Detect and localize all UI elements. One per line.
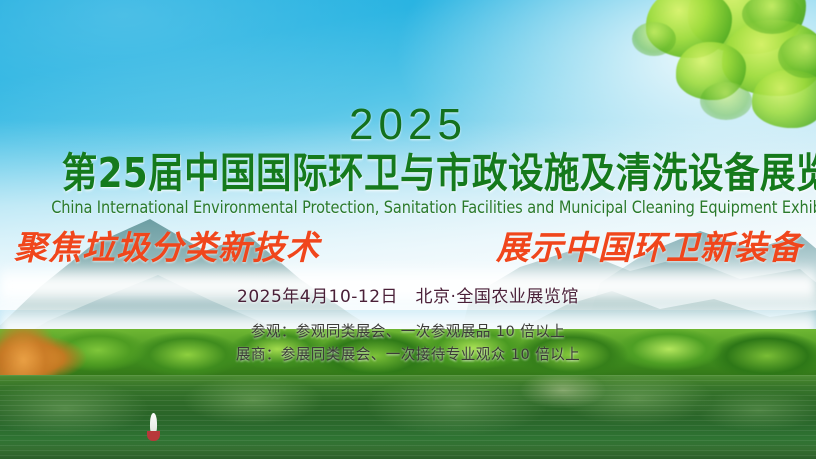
poster-year: 2025: [0, 103, 816, 147]
poster-text-content: 2025 第25届中国国际环卫与市政设施及清洗设备展览会 China Inter…: [0, 0, 816, 459]
slogan-left: 聚焦垃圾分类新技术: [14, 221, 320, 269]
slogan-right: 展示中国环卫新装备: [496, 221, 802, 269]
exhibition-poster: 2025 第25届中国国际环卫与市政设施及清洗设备展览会 China Inter…: [0, 0, 816, 459]
page-title: 第25届中国国际环卫与市政设施及清洗设备展览会: [0, 152, 816, 195]
note-exhibitor: 展商：参展同类展会、一次接待专业观众 10 倍以上: [0, 343, 816, 364]
slogan-row: 聚焦垃圾分类新技术 展示中国环卫新装备: [0, 221, 816, 269]
date-and-venue: 2025年4月10-12日 北京·全国农业展览馆: [0, 282, 816, 307]
note-visitor: 参观：参观同类展会、一次参观展品 10 倍以上: [0, 320, 816, 341]
page-subtitle-english: China International Environmental Protec…: [0, 198, 816, 217]
